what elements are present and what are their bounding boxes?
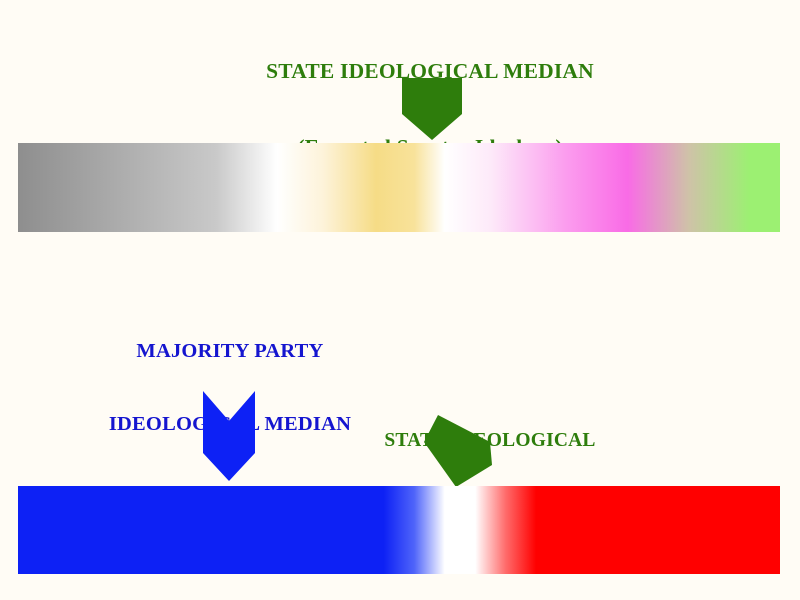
state-ideology-spectrum-bar bbox=[18, 143, 780, 232]
state-median-marker-icon bbox=[416, 408, 500, 490]
actual-senator-ideology-marker-icon bbox=[201, 389, 257, 483]
expected-senator-ideology-marker-icon bbox=[400, 76, 464, 142]
majority-label-line1: MAJORITY PARTY bbox=[30, 339, 430, 363]
diagram-canvas: STATE IDEOLOGICAL MEDIAN (Expected Senat… bbox=[0, 0, 800, 600]
party-ideology-spectrum-bar bbox=[18, 486, 780, 574]
